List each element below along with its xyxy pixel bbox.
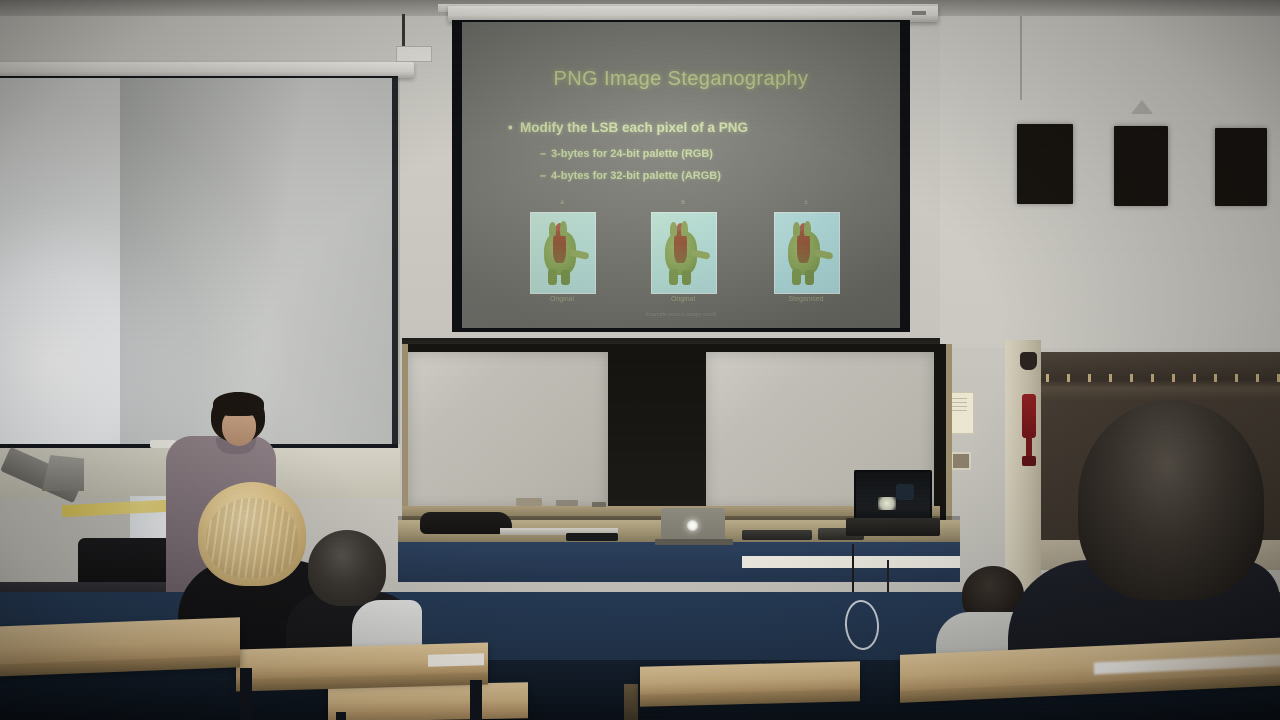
bag-on-lectern xyxy=(420,512,512,534)
equipment-under-monitor xyxy=(846,518,940,536)
dino-head-right-shape xyxy=(804,221,811,236)
slide-figure-1: a Original xyxy=(530,212,594,292)
slide-figure-3-caption: Steganised xyxy=(766,296,846,303)
desk-support-post xyxy=(624,684,638,720)
macbook-base xyxy=(655,539,733,545)
desk-leg-2 xyxy=(470,680,482,720)
whiteboard-left xyxy=(408,352,608,508)
dino-leg-right-shape xyxy=(682,270,691,285)
presentation-slide: PNG Image Steganography •Modify the LSB … xyxy=(462,22,900,328)
slide-figure-2-top-label: b xyxy=(651,200,715,206)
dino-leg-left-shape xyxy=(669,269,678,285)
grille-dot-row xyxy=(1046,374,1280,382)
slide-bullet-level1: •Modify the LSB each pixel of a PNG xyxy=(508,120,888,135)
slide-subbullet-2-text: 4-bytes for 32-bit palette (ARGB) xyxy=(551,170,721,182)
audience-centre-hair xyxy=(308,530,386,606)
audience-foreground-right-hair xyxy=(1078,400,1264,600)
desk-leg-3 xyxy=(336,712,346,720)
chalk-piece-1[interactable] xyxy=(556,500,578,506)
desk-leg-1 xyxy=(240,668,252,720)
monitor-screen-glow xyxy=(878,497,896,510)
dino-leg-right-shape xyxy=(805,270,814,285)
cable-junction-box xyxy=(396,46,432,62)
dino-head-left-shape xyxy=(670,222,677,236)
slide-subbullet-2: –4-bytes for 32-bit palette (ARGB) xyxy=(540,170,900,182)
dino-head-right-shape xyxy=(560,221,567,236)
board-eraser[interactable] xyxy=(516,498,542,506)
monitor-side-object xyxy=(896,484,914,500)
dino-head-left-shape xyxy=(549,222,556,236)
dash-marker-icon: – xyxy=(540,148,551,160)
blackboard-centre xyxy=(608,346,706,510)
chalk-piece-2[interactable] xyxy=(592,502,606,507)
dino-head-right-shape xyxy=(681,221,688,236)
slide-figure-2-caption: Original xyxy=(643,296,723,303)
cables-on-lectern-1 xyxy=(742,530,812,540)
emergency-phone-handset[interactable] xyxy=(1022,394,1036,438)
phone-hook xyxy=(1020,352,1037,370)
slide-figure-1-image xyxy=(530,212,596,294)
slide-figure-1-caption: Original xyxy=(522,296,602,303)
dino-head-left-shape xyxy=(793,222,800,236)
audience-blonde-hair-strands xyxy=(206,498,298,578)
wall-panel-3 xyxy=(1215,128,1267,206)
bullet-marker-icon: • xyxy=(508,120,520,135)
lecture-hall-video-frame: PNG Image Steganography •Modify the LSB … xyxy=(0,0,1280,720)
slide-title: PNG Image Steganography xyxy=(462,68,900,91)
slide-subbullet-1-text: 3-bytes for 24-bit palette (RGB) xyxy=(551,148,713,160)
slide-figure-3-top-label: c xyxy=(774,200,838,206)
roller-endcap xyxy=(912,11,926,15)
wall-panel-1 xyxy=(1017,124,1073,204)
wall-plaque xyxy=(951,452,971,470)
slide-subbullet-1: –3-bytes for 24-bit palette (RGB) xyxy=(540,148,900,160)
slide-figure-2-image xyxy=(651,212,717,294)
slide-figure-3: c Steganised xyxy=(774,212,838,292)
dino-leg-left-shape xyxy=(792,269,801,285)
slide-figure-1-top-label: a xyxy=(530,200,594,206)
slide-source-note: Example source image credit xyxy=(462,312,900,318)
keyboard-on-lectern[interactable] xyxy=(566,533,618,541)
dash-marker-icon: – xyxy=(540,170,551,182)
presenter-hair xyxy=(213,392,264,416)
slide-figure-3-image xyxy=(774,212,840,294)
paper-on-desk xyxy=(428,653,484,667)
left-screen-shading xyxy=(120,78,400,444)
slide-figure-2: b Original xyxy=(651,212,715,292)
apple-logo-icon xyxy=(687,520,698,531)
dino-leg-left-shape xyxy=(548,269,557,285)
emergency-phone-base xyxy=(1022,456,1036,466)
wall-panel-2 xyxy=(1114,126,1168,206)
lectern-front-light-strip xyxy=(742,556,960,568)
slide-bullet-level1-text: Modify the LSB each pixel of a PNG xyxy=(520,120,748,135)
power-cable xyxy=(402,14,405,48)
dino-leg-right-shape xyxy=(561,270,570,285)
